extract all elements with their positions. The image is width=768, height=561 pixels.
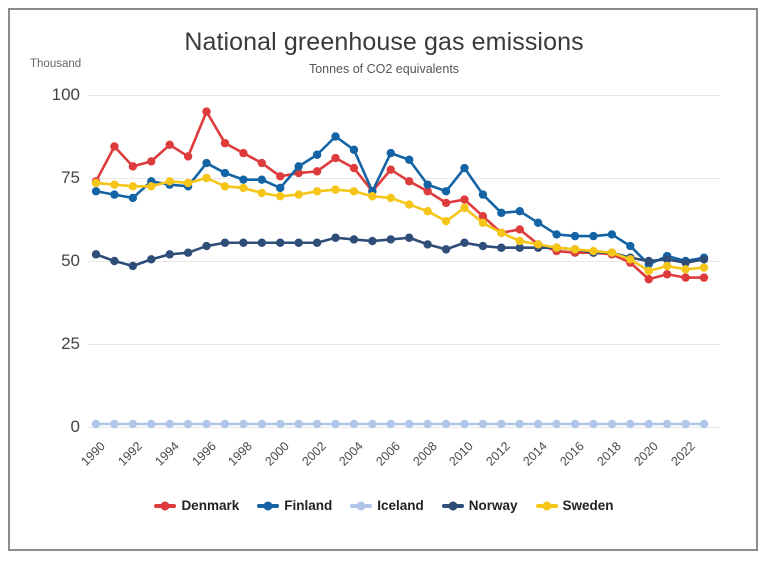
data-point[interactable] xyxy=(700,255,708,263)
data-point[interactable] xyxy=(405,177,413,185)
data-point[interactable] xyxy=(589,232,597,240)
data-point[interactable] xyxy=(460,195,468,203)
data-point[interactable] xyxy=(645,275,653,283)
data-point[interactable] xyxy=(331,154,339,162)
data-point[interactable] xyxy=(276,172,284,180)
data-point[interactable] xyxy=(350,420,358,428)
data-point[interactable] xyxy=(221,420,229,428)
data-point[interactable] xyxy=(663,270,671,278)
data-point[interactable] xyxy=(534,240,542,248)
series-canvas xyxy=(88,0,720,561)
data-point[interactable] xyxy=(147,182,155,190)
data-point[interactable] xyxy=(626,255,634,263)
legend-item-finland[interactable]: Finland xyxy=(257,498,332,513)
data-point[interactable] xyxy=(516,237,524,245)
data-point[interactable] xyxy=(129,420,137,428)
data-point[interactable] xyxy=(350,235,358,243)
data-point[interactable] xyxy=(571,245,579,253)
data-point[interactable] xyxy=(571,232,579,240)
data-point[interactable] xyxy=(460,204,468,212)
data-point[interactable] xyxy=(294,239,302,247)
data-point[interactable] xyxy=(294,420,302,428)
data-point[interactable] xyxy=(110,142,118,150)
data-point[interactable] xyxy=(184,152,192,160)
data-point[interactable] xyxy=(700,263,708,271)
data-point[interactable] xyxy=(239,149,247,157)
data-point[interactable] xyxy=(479,242,487,250)
data-point[interactable] xyxy=(405,234,413,242)
data-point[interactable] xyxy=(165,177,173,185)
data-point[interactable] xyxy=(92,250,100,258)
data-point[interactable] xyxy=(276,184,284,192)
data-point[interactable] xyxy=(184,249,192,257)
data-point[interactable] xyxy=(294,162,302,170)
data-point[interactable] xyxy=(258,420,266,428)
data-point[interactable] xyxy=(497,244,505,252)
series-sweden xyxy=(92,174,708,275)
data-point[interactable] xyxy=(571,420,579,428)
data-point[interactable] xyxy=(645,257,653,265)
data-point[interactable] xyxy=(221,139,229,147)
data-point[interactable] xyxy=(663,420,671,428)
data-point[interactable] xyxy=(331,234,339,242)
legend-label: Norway xyxy=(469,498,518,513)
series-denmark xyxy=(92,107,708,283)
y-tick-label-100: 100 xyxy=(22,85,80,105)
data-point[interactable] xyxy=(92,187,100,195)
data-point[interactable] xyxy=(608,249,616,257)
data-point[interactable] xyxy=(110,180,118,188)
data-point[interactable] xyxy=(184,420,192,428)
data-point[interactable] xyxy=(442,187,450,195)
data-point[interactable] xyxy=(239,239,247,247)
data-point[interactable] xyxy=(442,199,450,207)
data-point[interactable] xyxy=(129,262,137,270)
series-iceland xyxy=(92,420,708,428)
data-point[interactable] xyxy=(276,420,284,428)
y-tick-label-75: 75 xyxy=(22,168,80,188)
data-point[interactable] xyxy=(184,179,192,187)
data-point[interactable] xyxy=(202,174,210,182)
data-point[interactable] xyxy=(350,146,358,154)
data-point[interactable] xyxy=(700,420,708,428)
data-point[interactable] xyxy=(165,250,173,258)
legend-item-denmark[interactable]: Denmark xyxy=(154,498,239,513)
data-point[interactable] xyxy=(387,420,395,428)
chart-legend: DenmarkFinlandIcelandNorwaySweden xyxy=(0,498,768,513)
plot-area: 1990199219941996199820002002200420062008… xyxy=(88,0,728,561)
data-point[interactable] xyxy=(202,159,210,167)
data-point[interactable] xyxy=(221,182,229,190)
data-point[interactable] xyxy=(276,239,284,247)
data-point[interactable] xyxy=(479,420,487,428)
y-axis: 0255075100 xyxy=(20,0,80,561)
data-point[interactable] xyxy=(313,239,321,247)
data-point[interactable] xyxy=(368,192,376,200)
data-point[interactable] xyxy=(294,190,302,198)
data-point[interactable] xyxy=(276,192,284,200)
legend-label: Iceland xyxy=(377,498,424,513)
data-point[interactable] xyxy=(258,239,266,247)
data-point[interactable] xyxy=(460,239,468,247)
data-point[interactable] xyxy=(239,175,247,183)
data-point[interactable] xyxy=(681,273,689,281)
data-point[interactable] xyxy=(681,420,689,428)
data-point[interactable] xyxy=(350,187,358,195)
data-point[interactable] xyxy=(202,420,210,428)
data-point[interactable] xyxy=(129,194,137,202)
data-point[interactable] xyxy=(258,189,266,197)
data-point[interactable] xyxy=(516,225,524,233)
legend-marker-icon xyxy=(442,504,464,508)
data-point[interactable] xyxy=(258,159,266,167)
y-tick-label-50: 50 xyxy=(22,251,80,271)
data-point[interactable] xyxy=(221,239,229,247)
data-point[interactable] xyxy=(331,132,339,140)
data-point[interactable] xyxy=(221,169,229,177)
data-point[interactable] xyxy=(387,194,395,202)
data-point[interactable] xyxy=(681,265,689,273)
legend-marker-icon xyxy=(257,504,279,508)
data-point[interactable] xyxy=(534,219,542,227)
legend-label: Finland xyxy=(284,498,332,513)
data-point[interactable] xyxy=(460,164,468,172)
data-point[interactable] xyxy=(92,179,100,187)
data-point[interactable] xyxy=(387,235,395,243)
data-point[interactable] xyxy=(645,420,653,428)
data-point[interactable] xyxy=(442,217,450,225)
legend-item-iceland[interactable]: Iceland xyxy=(350,498,424,513)
data-point[interactable] xyxy=(202,107,210,115)
data-point[interactable] xyxy=(331,420,339,428)
data-point[interactable] xyxy=(589,247,597,255)
data-point[interactable] xyxy=(368,420,376,428)
data-point[interactable] xyxy=(387,166,395,174)
data-point[interactable] xyxy=(313,167,321,175)
data-point[interactable] xyxy=(313,420,321,428)
data-point[interactable] xyxy=(460,420,468,428)
data-point[interactable] xyxy=(516,207,524,215)
data-point[interactable] xyxy=(497,209,505,217)
data-point[interactable] xyxy=(147,157,155,165)
data-point[interactable] xyxy=(479,190,487,198)
data-point[interactable] xyxy=(110,420,118,428)
data-point[interactable] xyxy=(147,420,155,428)
data-point[interactable] xyxy=(147,255,155,263)
data-point[interactable] xyxy=(92,420,100,428)
data-point[interactable] xyxy=(497,229,505,237)
data-point[interactable] xyxy=(239,184,247,192)
y-tick-label-0: 0 xyxy=(22,417,80,437)
data-point[interactable] xyxy=(387,149,395,157)
data-point[interactable] xyxy=(663,262,671,270)
data-point[interactable] xyxy=(423,207,431,215)
data-point[interactable] xyxy=(165,420,173,428)
data-point[interactable] xyxy=(350,164,358,172)
data-point[interactable] xyxy=(552,420,560,428)
legend-label: Denmark xyxy=(181,498,239,513)
data-point[interactable] xyxy=(405,156,413,164)
data-point[interactable] xyxy=(258,175,266,183)
data-point[interactable] xyxy=(368,237,376,245)
data-point[interactable] xyxy=(552,244,560,252)
data-point[interactable] xyxy=(165,141,173,149)
data-point[interactable] xyxy=(626,420,634,428)
data-point[interactable] xyxy=(442,245,450,253)
data-point[interactable] xyxy=(202,242,210,250)
data-point[interactable] xyxy=(110,190,118,198)
data-point[interactable] xyxy=(405,420,413,428)
data-point[interactable] xyxy=(423,240,431,248)
legend-label: Sweden xyxy=(563,498,614,513)
data-point[interactable] xyxy=(516,420,524,428)
legend-item-sweden[interactable]: Sweden xyxy=(536,498,614,513)
data-point[interactable] xyxy=(589,420,597,428)
data-point[interactable] xyxy=(331,185,339,193)
data-point[interactable] xyxy=(423,420,431,428)
data-point[interactable] xyxy=(129,162,137,170)
data-point[interactable] xyxy=(552,230,560,238)
data-point[interactable] xyxy=(442,420,450,428)
data-point[interactable] xyxy=(239,420,247,428)
y-tick-label-25: 25 xyxy=(22,334,80,354)
data-point[interactable] xyxy=(313,151,321,159)
data-point[interactable] xyxy=(608,420,616,428)
data-point[interactable] xyxy=(129,182,137,190)
legend-item-norway[interactable]: Norway xyxy=(442,498,518,513)
data-point[interactable] xyxy=(423,180,431,188)
legend-marker-icon xyxy=(154,504,176,508)
data-point[interactable] xyxy=(626,242,634,250)
data-point[interactable] xyxy=(534,420,542,428)
data-point[interactable] xyxy=(700,273,708,281)
legend-marker-icon xyxy=(536,504,558,508)
data-point[interactable] xyxy=(405,200,413,208)
data-point[interactable] xyxy=(497,420,505,428)
chart-container: National greenhouse gas emissions Tonnes… xyxy=(0,0,768,561)
legend-marker-icon xyxy=(350,504,372,508)
data-point[interactable] xyxy=(313,187,321,195)
data-point[interactable] xyxy=(479,219,487,227)
data-point[interactable] xyxy=(645,267,653,275)
data-point[interactable] xyxy=(110,257,118,265)
data-point[interactable] xyxy=(608,230,616,238)
